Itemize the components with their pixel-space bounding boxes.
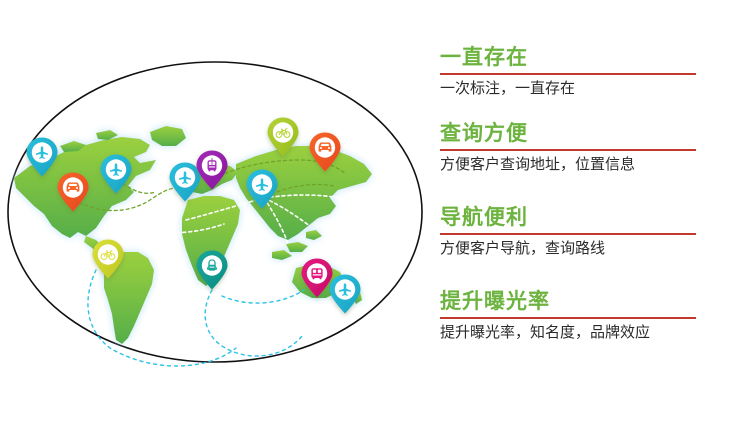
feature-title-3: 导航便利: [440, 206, 708, 230]
promo-banner: 一直存在 一次标注，一直存在 查询方便 方便客户查询地址，位置信息 导航便利 方…: [0, 0, 748, 441]
feature-rule-2: [440, 149, 696, 151]
route-cyan-australia: [222, 290, 304, 303]
feature-title-2: 查询方便: [440, 122, 708, 146]
feature-block-1: 一直存在 一次标注，一直存在: [440, 46, 708, 99]
feature-block-3: 导航便利 方便客户导航，查询路线: [440, 206, 708, 259]
map-pin-airplane[interactable]: [330, 275, 361, 314]
feature-title-4: 提升曝光率: [440, 290, 708, 314]
bus-icon: [311, 268, 322, 279]
map-panel: [0, 0, 430, 441]
feature-description-2: 方便客户查询地址，位置信息: [440, 155, 708, 175]
map-pin-airplane[interactable]: [170, 163, 201, 202]
feature-description-3: 方便客户导航，查询路线: [440, 239, 708, 259]
feature-rule-1: [440, 73, 696, 75]
map-pin-scooter[interactable]: [197, 251, 228, 290]
feature-block-4: 提升曝光率 提升曝光率，知名度，品牌效应: [440, 290, 708, 343]
feature-title-1: 一直存在: [440, 46, 708, 70]
feature-description-4: 提升曝光率，知名度，品牌效应: [440, 323, 708, 343]
feature-rule-4: [440, 317, 696, 319]
feature-description-1: 一次标注，一直存在: [440, 79, 708, 99]
route-cyan-africa: [205, 290, 302, 356]
feature-rule-3: [440, 233, 696, 235]
feature-list: 一直存在 一次标注，一直存在 查询方便 方便客户查询地址，位置信息 导航便利 方…: [440, 46, 730, 406]
feature-block-2: 查询方便 方便客户查询地址，位置信息: [440, 122, 708, 175]
world-map-graphic: [0, 0, 430, 441]
